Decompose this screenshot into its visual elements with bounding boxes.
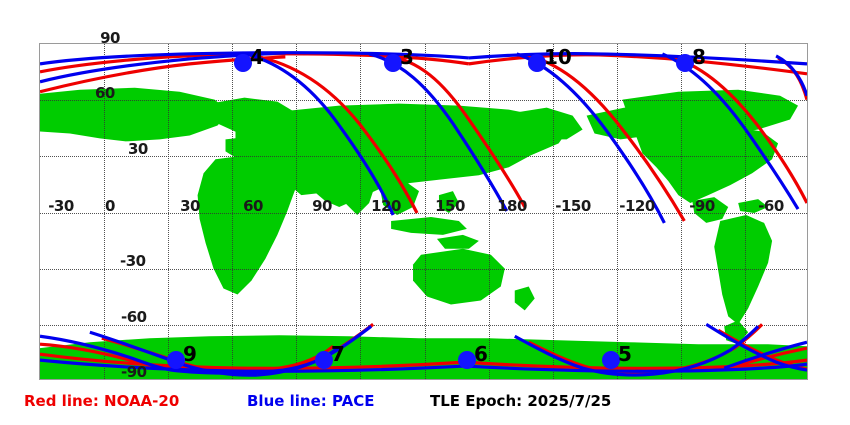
chart-legend: Red line: NOAA-20 Blue line: PACE TLE Ep… [0,392,850,420]
ytick-label-90: 90 [100,29,120,47]
xtick-label--30: -30 [48,197,74,215]
xtick-label-150: 150 [435,197,465,215]
xtick-label--150: -150 [555,197,591,215]
marker-label: 6 [474,344,488,364]
ytick-label-30: 30 [128,140,148,158]
marker-label: 9 [183,344,197,364]
xtick-label--120: -120 [619,197,655,215]
track-noaa20 [40,54,807,221]
xtick-label-60: 60 [243,197,263,215]
ytick-label--90: -90 [121,363,147,381]
ytick-label--30: -30 [120,252,146,270]
legend-entry-pace: Blue line: PACE [247,392,375,410]
ytick-label--60: -60 [121,308,147,326]
xtick-label--90: -90 [689,197,715,215]
marker-label: 10 [544,47,572,67]
xtick-label-90: 90 [312,197,332,215]
track-pace-south [40,324,807,375]
xtick-label--60: -60 [758,197,784,215]
marker-label: 5 [618,344,632,364]
marker-label: 7 [331,344,345,364]
marker-label: 3 [400,47,414,67]
xtick-label-30: 30 [180,197,200,215]
marker-label: 8 [692,47,706,67]
xtick-label-0: 0 [105,197,115,215]
xtick-label-180: 180 [497,197,527,215]
legend-entry-noaa20: Red line: NOAA-20 [24,392,179,410]
marker-label: 4 [250,47,264,67]
ytick-label-60: 60 [95,84,115,102]
xtick-label-120: 120 [371,197,401,215]
legend-tle-epoch: TLE Epoch: 2025/7/25 [430,392,611,410]
